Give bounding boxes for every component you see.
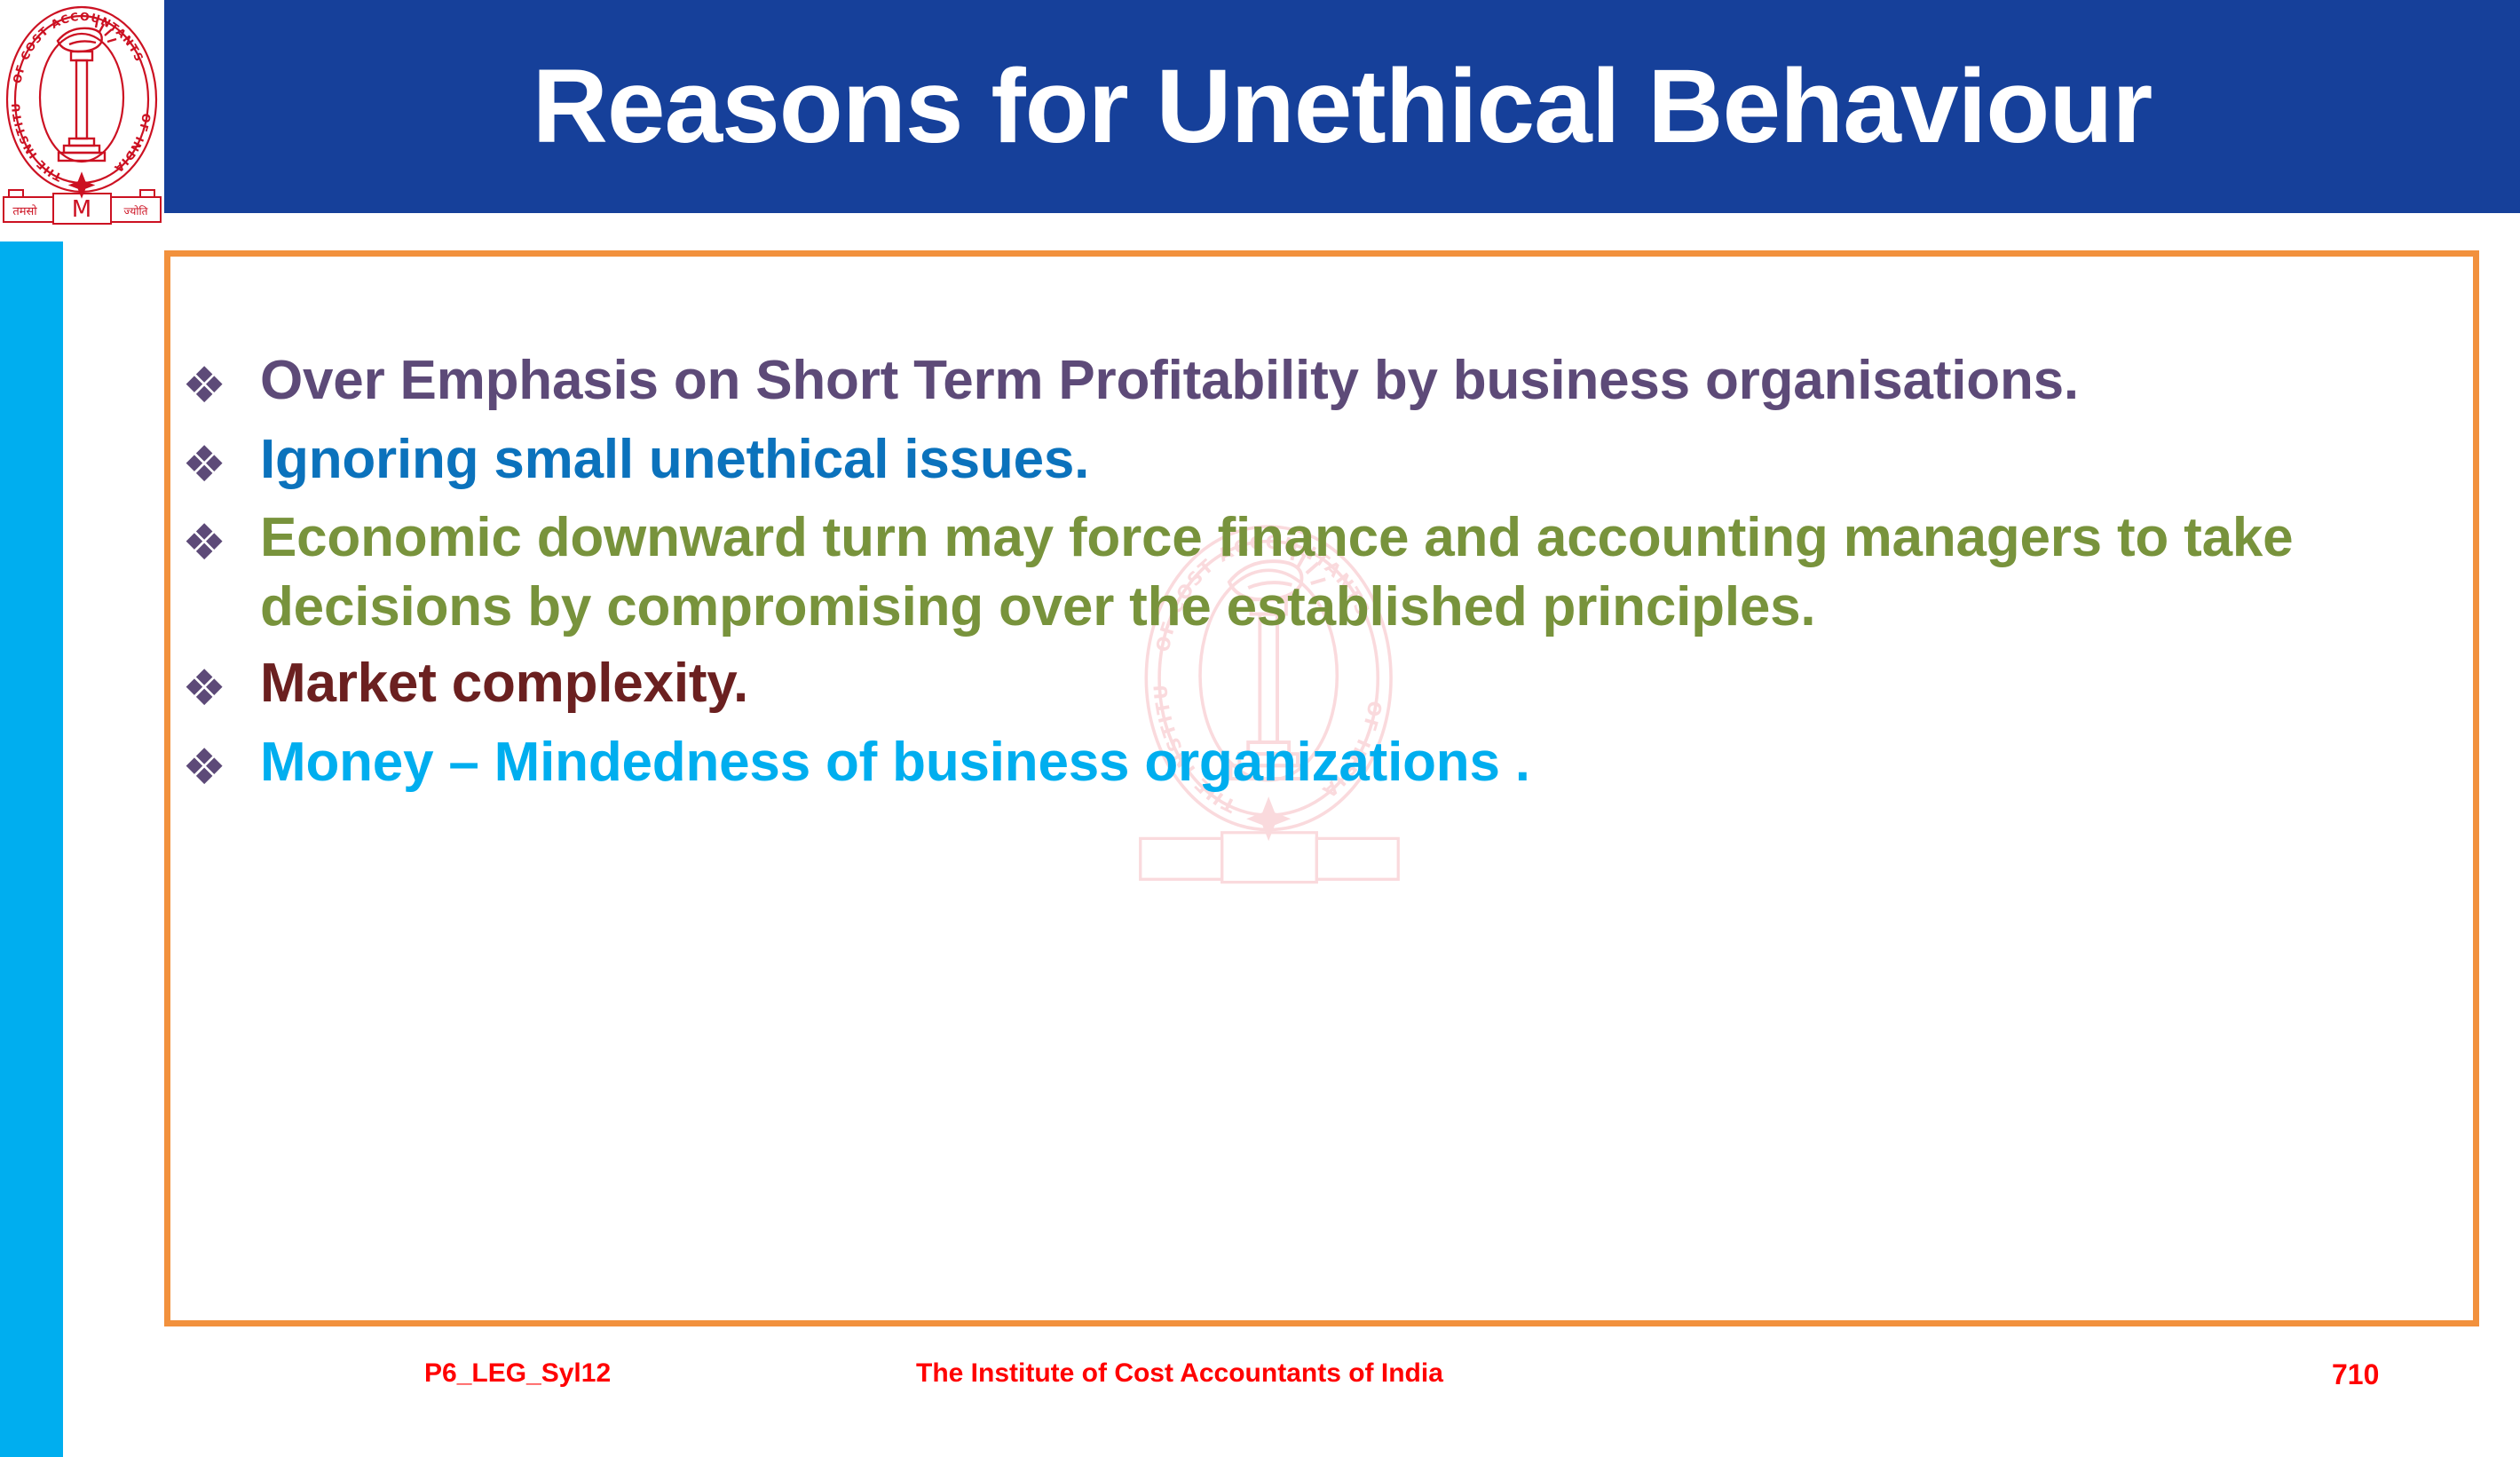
list-item: ❖ Market complexity. <box>182 649 2463 721</box>
list-item: ❖ Over Emphasis on Short Term Profitabil… <box>182 346 2463 418</box>
diamond-bullet-icon: ❖ <box>182 346 260 418</box>
list-item: ❖ Money – Mindedness of business organiz… <box>182 728 2463 800</box>
bullet-text-5: Money – Mindedness of business organizat… <box>260 728 2463 797</box>
page-title: Reasons for Unethical Behaviour <box>164 0 2520 213</box>
bullet-text-1: Over Emphasis on Short Term Profitabilit… <box>260 346 2463 416</box>
svg-text:M: M <box>72 196 91 223</box>
svg-text:OF COST ACCOUNTANTS: OF COST ACCOUNTANTS <box>10 10 146 84</box>
institute-logo-icon: OF COST ACCOUNTANTS OF INDIA THE INSTITU… <box>0 0 164 233</box>
left-accent-bar <box>0 242 63 1457</box>
bullet-text-4: Market complexity. <box>260 649 2463 718</box>
bullet-text-3: Economic downward turn may force finance… <box>260 503 2463 642</box>
institute-logo: OF COST ACCOUNTANTS OF INDIA THE INSTITU… <box>0 0 164 233</box>
footer-page-number: 710 <box>2332 1358 2379 1391</box>
diamond-bullet-icon: ❖ <box>182 503 260 575</box>
svg-text:तमसो: तमसो <box>12 204 37 218</box>
bullet-list: ❖ Over Emphasis on Short Term Profitabil… <box>182 346 2463 806</box>
diamond-bullet-icon: ❖ <box>182 649 260 721</box>
diamond-bullet-icon: ❖ <box>182 425 260 497</box>
footer-institute: The Institute of Cost Accountants of Ind… <box>916 1358 1443 1389</box>
bullet-text-2: Ignoring small unethical issues. <box>260 425 2463 495</box>
footer-subject-code: P6_LEG_Syl12 <box>424 1358 611 1389</box>
footer: P6_LEG_Syl12 The Institute of Cost Accou… <box>0 1358 2520 1412</box>
svg-text:ज्योति: ज्योति <box>124 205 149 218</box>
list-item: ❖ Economic downward turn may force finan… <box>182 503 2463 642</box>
list-item: ❖ Ignoring small unethical issues. <box>182 425 2463 497</box>
diamond-bullet-icon: ❖ <box>182 728 260 800</box>
